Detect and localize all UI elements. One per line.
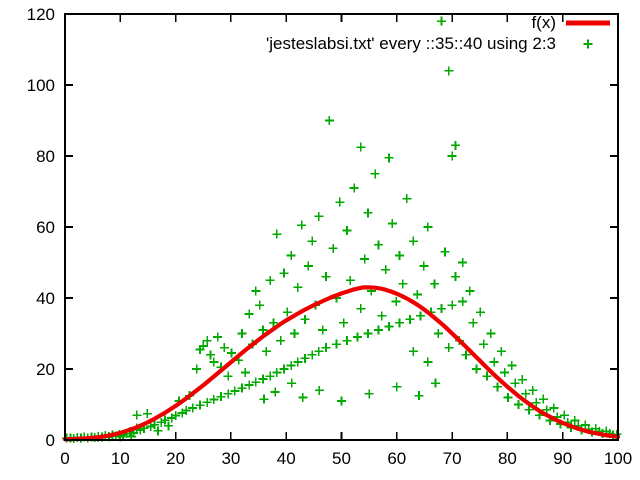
x-tick-label: 30: [221, 449, 240, 468]
gnuplot-chart: 020406080100120 0102030405060708090100 f…: [0, 0, 640, 480]
y-tick-label: 100: [27, 76, 55, 95]
y-tick-label: 60: [36, 218, 55, 237]
y-tick-label: 80: [36, 147, 55, 166]
x-tick-label: 10: [111, 449, 130, 468]
legend-entry-data-label: 'jesteslabsi.txt' every ::35::40 using 2…: [266, 34, 556, 53]
x-tick-label: 0: [60, 449, 69, 468]
y-tick-label: 120: [27, 5, 55, 24]
x-tick-label: 70: [443, 449, 462, 468]
y-tick-label: 20: [36, 360, 55, 379]
x-tick-label: 40: [277, 449, 296, 468]
x-tick-label: 50: [332, 449, 351, 468]
x-tick-label: 60: [387, 449, 406, 468]
x-tick-label: 90: [553, 449, 572, 468]
y-tick-label: 0: [46, 431, 55, 450]
x-tick-label: 80: [498, 449, 517, 468]
legend-entry-fx-label: f(x): [531, 13, 556, 32]
chart-background: [0, 0, 640, 480]
x-tick-label: 20: [166, 449, 185, 468]
y-tick-label: 40: [36, 289, 55, 308]
chart-container: 020406080100120 0102030405060708090100 f…: [0, 0, 640, 480]
x-tick-label: 100: [604, 449, 632, 468]
